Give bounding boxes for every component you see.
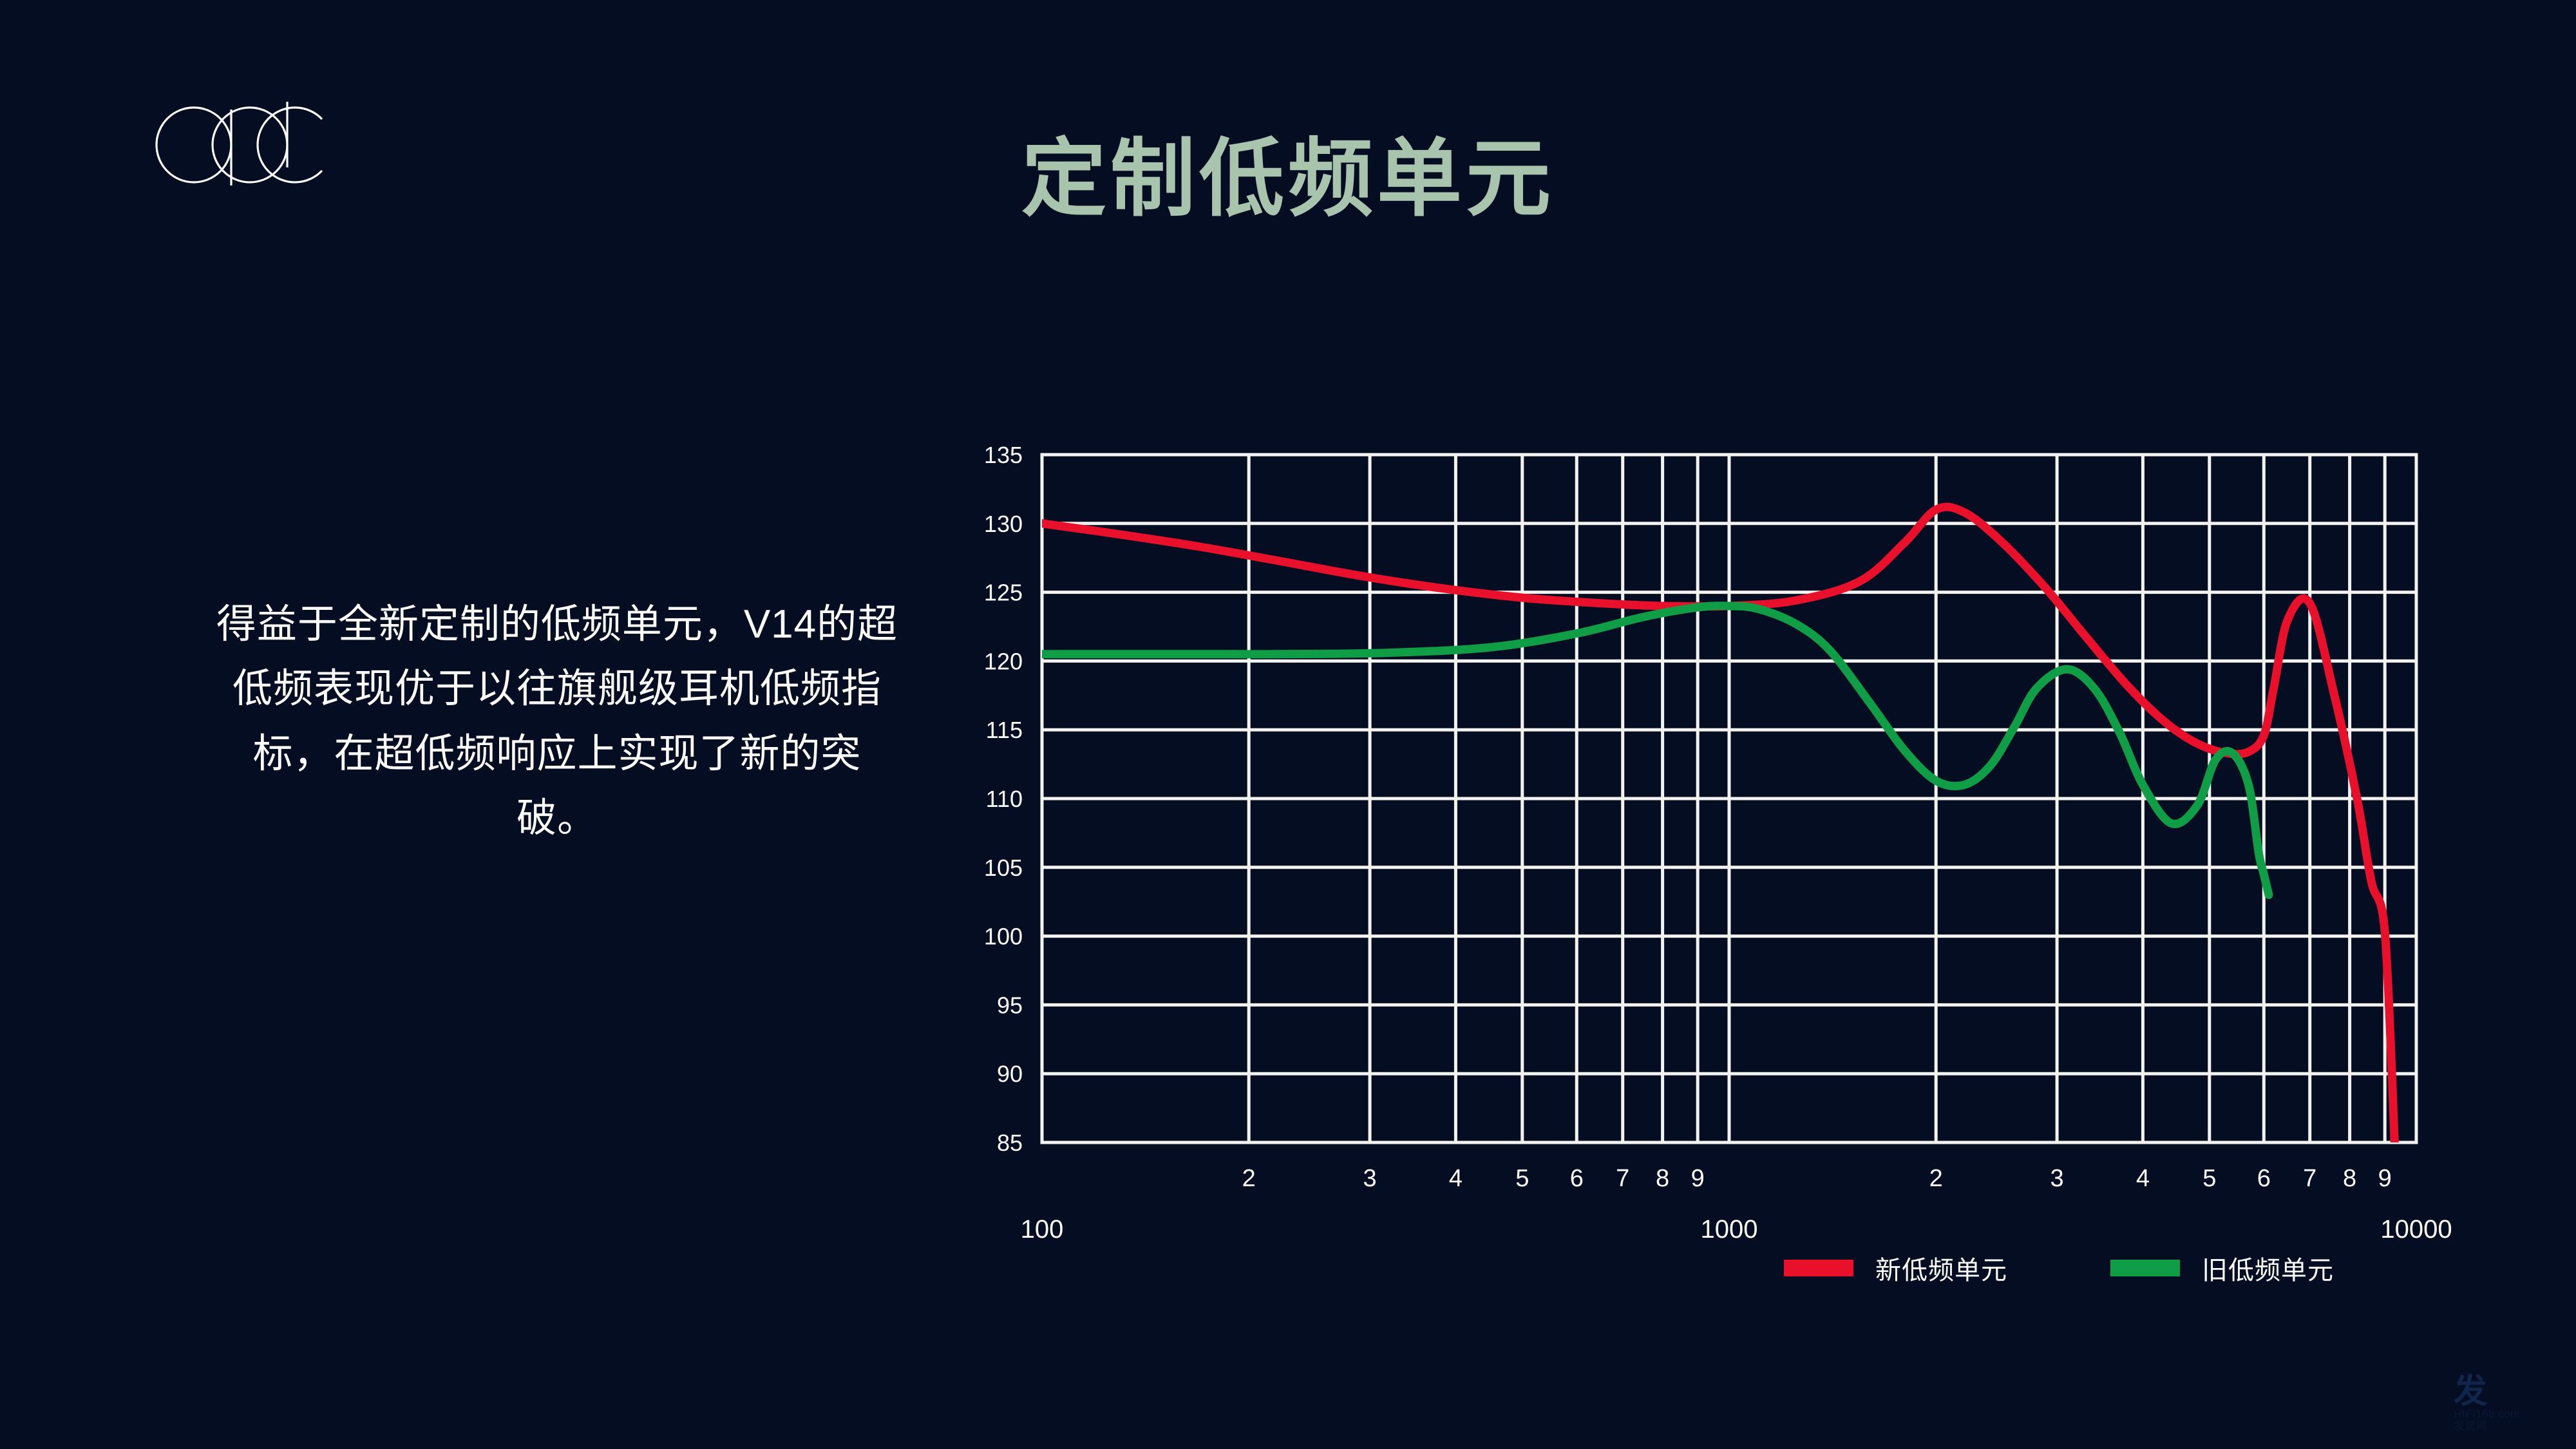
x-minor-tick-label: 3: [1363, 1165, 1377, 1192]
y-tick-label: 85: [997, 1130, 1023, 1156]
y-tick-label: 115: [986, 717, 1023, 743]
chart-series-lines: [1042, 507, 2394, 1142]
x-minor-tick-label: 4: [1449, 1165, 1463, 1192]
x-minor-tick-label: 4: [2136, 1165, 2150, 1192]
x-minor-tick-label: 8: [2343, 1165, 2356, 1192]
y-tick-label: 135: [984, 442, 1023, 468]
watermark-line1: HIFI168.com: [2454, 1408, 2557, 1421]
x-major-tick-label: 100: [1021, 1215, 1064, 1244]
legend-item-old-driver[interactable]: 旧低频单元: [2110, 1249, 2334, 1287]
x-major-tick-label: 1000: [1701, 1215, 1758, 1244]
y-tick-label: 125: [984, 580, 1023, 606]
x-minor-tick-label: 6: [2257, 1165, 2271, 1192]
legend-item-new-driver[interactable]: 新低频单元: [1784, 1249, 2007, 1287]
x-minor-tick-label: 5: [2202, 1165, 2216, 1192]
y-tick-label: 130: [984, 511, 1023, 537]
y-tick-label: 100: [984, 923, 1023, 950]
watermark-line2: 发烧网: [2454, 1421, 2557, 1433]
chart-legend: 新低频单元 旧低频单元: [1784, 1249, 2334, 1287]
x-minor-tick-label: 9: [2378, 1165, 2392, 1192]
x-axis-major-tick-labels: 100100010000: [1021, 1215, 2452, 1244]
x-minor-tick-label: 8: [1656, 1165, 1669, 1192]
frequency-response-chart: 859095100105110115120125130135 234567892…: [960, 412, 2454, 1262]
x-minor-tick-label: 7: [2303, 1165, 2316, 1192]
body-paragraph: 得益于全新定制的低频单元，V14的超低频表现优于以往旗舰级耳机低频指标，在超低频…: [213, 592, 902, 851]
legend-swatch-old-driver: [2110, 1260, 2180, 1276]
y-axis-tick-labels: 859095100105110115120125130135: [984, 442, 1023, 1156]
x-minor-tick-label: 6: [1570, 1165, 1584, 1192]
legend-label-old-driver: 旧低频单元: [2202, 1249, 2334, 1287]
x-minor-tick-label: 7: [1616, 1165, 1629, 1192]
y-tick-label: 110: [986, 786, 1023, 812]
series-line-old-driver: [1042, 606, 2269, 895]
y-tick-label: 95: [997, 992, 1023, 1018]
watermark-mark: 发: [2454, 1375, 2557, 1408]
x-minor-tick-label: 2: [1929, 1165, 1943, 1192]
x-minor-tick-label: 9: [1691, 1165, 1705, 1192]
y-tick-label: 120: [984, 648, 1023, 674]
x-minor-tick-label: 5: [1515, 1165, 1529, 1192]
x-minor-tick-label: 3: [2050, 1165, 2064, 1192]
qdc-logo: [147, 90, 327, 200]
x-major-tick-label: 10000: [2380, 1215, 2452, 1244]
chart-canvas: 859095100105110115120125130135 234567892…: [960, 412, 2454, 1262]
site-watermark: 发 HIFI168.com 发烧网: [2454, 1375, 2557, 1439]
x-minor-tick-label: 2: [1242, 1165, 1256, 1192]
y-tick-label: 90: [997, 1061, 1023, 1087]
page-title: 定制低频单元: [934, 132, 1642, 225]
y-tick-label: 105: [984, 855, 1023, 881]
x-axis-minor-tick-labels: 2345678923456789: [1242, 1165, 2392, 1192]
slide-root: 定制低频单元 得益于全新定制的低频单元，V14的超低频表现优于以往旗舰级耳机低频…: [0, 0, 2576, 1449]
legend-swatch-new-driver: [1784, 1260, 1853, 1276]
legend-label-new-driver: 新低频单元: [1875, 1249, 2007, 1287]
